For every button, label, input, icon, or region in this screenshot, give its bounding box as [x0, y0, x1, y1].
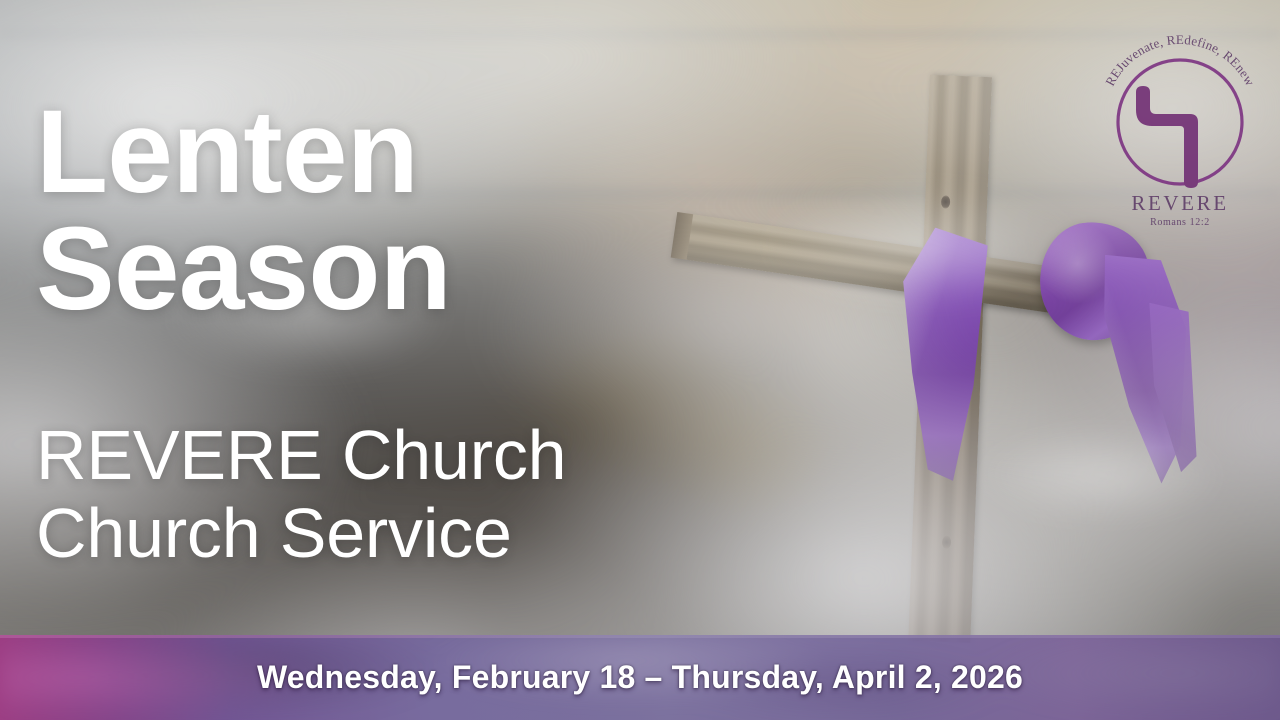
event-date-range: Wednesday, February 18 – Thursday, April… [0, 635, 1280, 720]
logo-scripture: Romans 12:2 [1150, 217, 1210, 228]
logo-wordmark: REVERE [1131, 191, 1228, 215]
subtitle-block: REVERE Church Church Service [36, 416, 876, 573]
headline-block: Lenten Season [36, 96, 756, 327]
poster-subtitle-line-2: Church Service [36, 494, 876, 572]
poster-title-line-2: Season [36, 213, 756, 326]
poster-subtitle-line-1: REVERE Church [36, 416, 876, 494]
date-banner: Wednesday, February 18 – Thursday, April… [0, 635, 1280, 720]
revere-church-logo: REJuvenate, REdefine, REnew REVERE Roman… [1092, 22, 1268, 230]
poster-title-line-1: Lenten [36, 96, 756, 209]
lenten-season-poster: Lenten Season REVERE Church Church Servi… [0, 0, 1280, 720]
